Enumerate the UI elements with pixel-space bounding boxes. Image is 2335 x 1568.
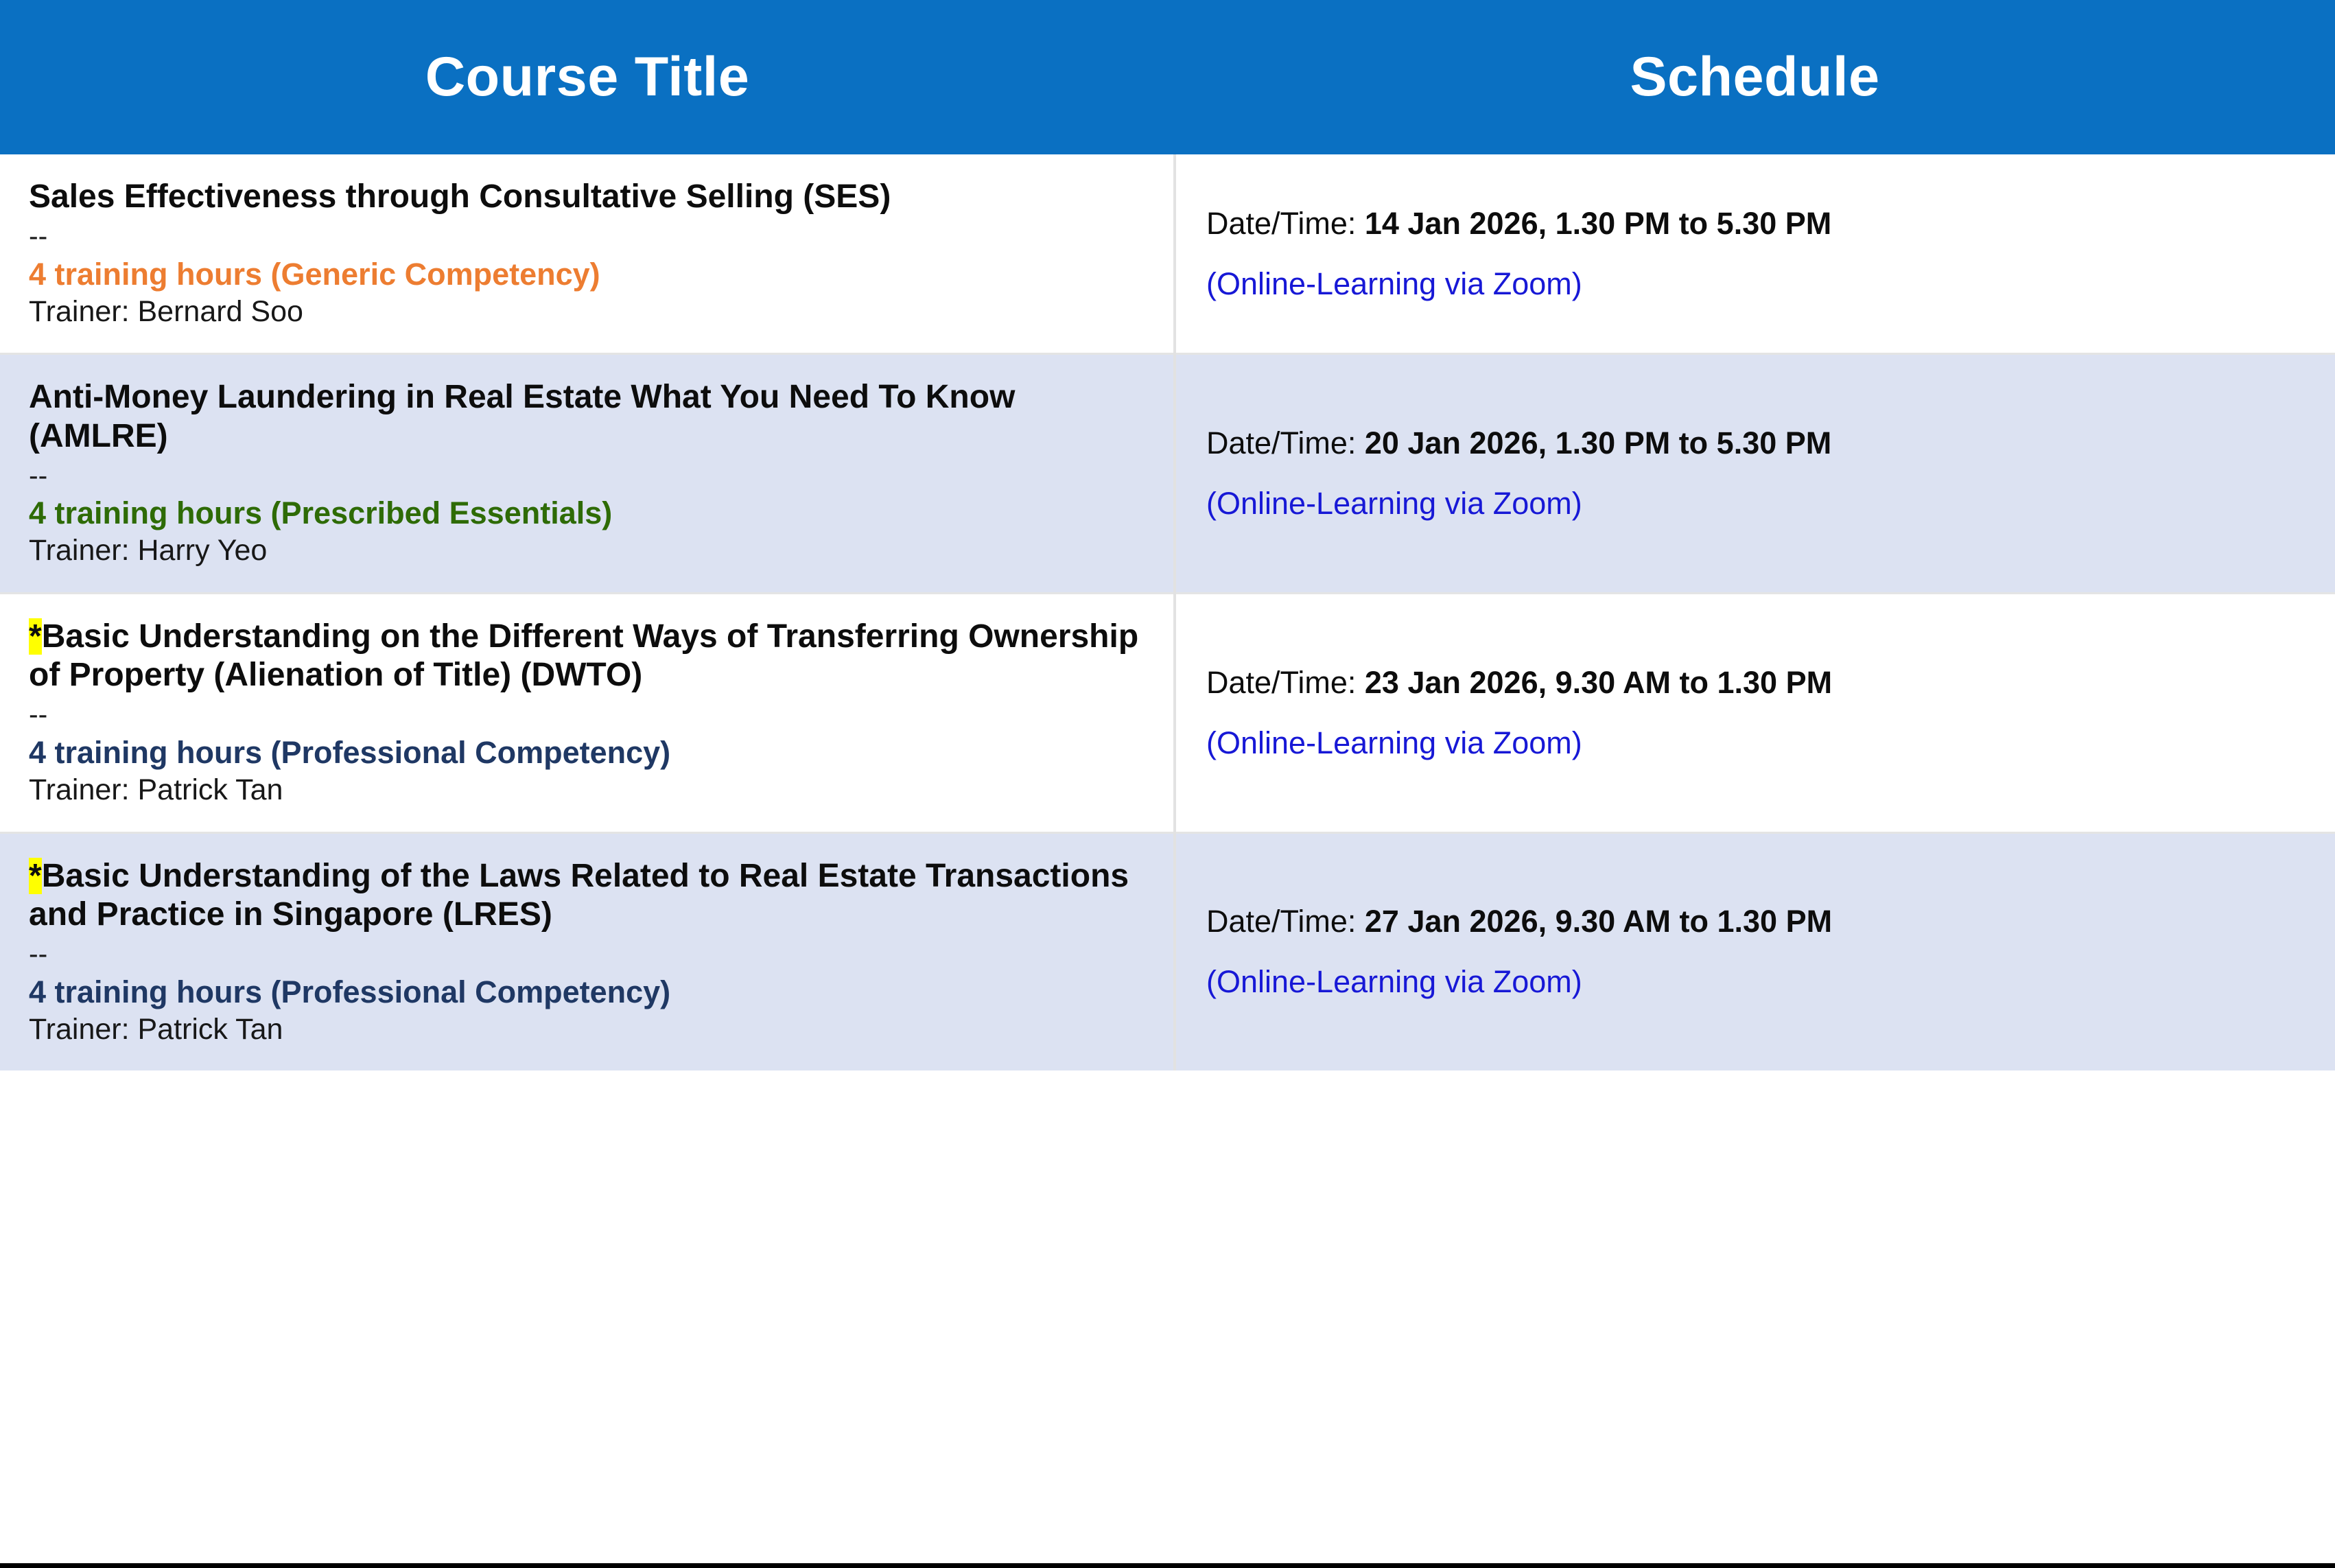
- course-trainer: Trainer: Harry Yeo: [29, 533, 1146, 569]
- course-schedule-container: Course Title Schedule Sales Effectivenes…: [0, 0, 2335, 1568]
- course-cell: Sales Effectiveness through Consultative…: [0, 154, 1175, 354]
- schedule-datetime-label: Date/Time:: [1206, 425, 1365, 460]
- schedule-datetime: Date/Time: 14 Jan 2026, 1.30 PM to 5.30 …: [1206, 205, 2308, 242]
- course-title-text: Sales Effectiveness through Consultative…: [29, 178, 891, 215]
- course-separator: --: [29, 458, 1146, 494]
- schedule-datetime-value: 23 Jan 2026, 9.30 AM to 1.30 PM: [1365, 665, 1832, 700]
- course-trainer: Trainer: Patrick Tan: [29, 1012, 1146, 1048]
- schedule-cell: Date/Time: 20 Jan 2026, 1.30 PM to 5.30 …: [1175, 354, 2335, 594]
- schedule-delivery-mode: (Online-Learning via Zoom): [1206, 725, 2308, 762]
- header-row: Course Title Schedule: [0, 0, 2335, 154]
- schedule-datetime-value: 20 Jan 2026, 1.30 PM to 5.30 PM: [1365, 425, 1831, 460]
- table-row: *Basic Understanding on the Different Wa…: [0, 593, 2335, 832]
- course-separator: --: [29, 219, 1146, 255]
- course-title: *Basic Understanding of the Laws Related…: [29, 857, 1146, 934]
- course-cell: *Basic Understanding on the Different Wa…: [0, 593, 1175, 832]
- highlight-star: *: [29, 618, 42, 655]
- schedule-datetime: Date/Time: 27 Jan 2026, 9.30 AM to 1.30 …: [1206, 903, 2308, 940]
- highlight-star: *: [29, 858, 42, 894]
- course-cell: Anti-Money Laundering in Real Estate Wha…: [0, 354, 1175, 594]
- schedule-cell: Date/Time: 14 Jan 2026, 1.30 PM to 5.30 …: [1175, 154, 2335, 354]
- schedule-datetime-label: Date/Time:: [1206, 665, 1365, 700]
- schedule-delivery-mode: (Online-Learning via Zoom): [1206, 266, 2308, 303]
- schedule-cell: Date/Time: 23 Jan 2026, 9.30 AM to 1.30 …: [1175, 593, 2335, 832]
- schedule-datetime-label: Date/Time:: [1206, 206, 1365, 241]
- schedule-datetime-value: 14 Jan 2026, 1.30 PM to 5.30 PM: [1365, 206, 1831, 241]
- column-header-course-title: Course Title: [0, 0, 1175, 154]
- course-training-hours: 4 training hours (Professional Competenc…: [29, 734, 1146, 771]
- course-training-hours: 4 training hours (Professional Competenc…: [29, 974, 1146, 1011]
- table-row: Sales Effectiveness through Consultative…: [0, 154, 2335, 354]
- bottom-edge-strip: [0, 1563, 2335, 1568]
- course-schedule-table: Course Title Schedule Sales Effectivenes…: [0, 0, 2335, 1070]
- course-training-hours: 4 training hours (Generic Competency): [29, 256, 1146, 293]
- table-row: Anti-Money Laundering in Real Estate Wha…: [0, 354, 2335, 594]
- table-header: Course Title Schedule: [0, 0, 2335, 154]
- schedule-cell: Date/Time: 27 Jan 2026, 9.30 AM to 1.30 …: [1175, 832, 2335, 1070]
- course-trainer: Trainer: Patrick Tan: [29, 773, 1146, 808]
- course-title: Anti-Money Laundering in Real Estate Wha…: [29, 378, 1146, 455]
- column-header-schedule: Schedule: [1175, 0, 2335, 154]
- course-separator: --: [29, 937, 1146, 972]
- course-title-text: Anti-Money Laundering in Real Estate Wha…: [29, 379, 1015, 454]
- course-trainer: Trainer: Bernard Soo: [29, 294, 1146, 330]
- schedule-datetime: Date/Time: 23 Jan 2026, 9.30 AM to 1.30 …: [1206, 664, 2308, 701]
- table-body: Sales Effectiveness through Consultative…: [0, 154, 2335, 1070]
- schedule-datetime: Date/Time: 20 Jan 2026, 1.30 PM to 5.30 …: [1206, 425, 2308, 462]
- course-separator: --: [29, 697, 1146, 733]
- course-title: *Basic Understanding on the Different Wa…: [29, 618, 1146, 694]
- course-title-text: Basic Understanding of the Laws Related …: [29, 858, 1129, 933]
- course-training-hours: 4 training hours (Prescribed Essentials): [29, 495, 1146, 532]
- course-title: Sales Effectiveness through Consultative…: [29, 178, 1146, 216]
- table-row: *Basic Understanding of the Laws Related…: [0, 832, 2335, 1070]
- course-cell: *Basic Understanding of the Laws Related…: [0, 832, 1175, 1070]
- schedule-delivery-mode: (Online-Learning via Zoom): [1206, 963, 2308, 1001]
- schedule-delivery-mode: (Online-Learning via Zoom): [1206, 485, 2308, 522]
- schedule-datetime-label: Date/Time:: [1206, 904, 1365, 939]
- course-title-text: Basic Understanding on the Different Way…: [29, 618, 1138, 693]
- schedule-datetime-value: 27 Jan 2026, 9.30 AM to 1.30 PM: [1365, 904, 1832, 939]
